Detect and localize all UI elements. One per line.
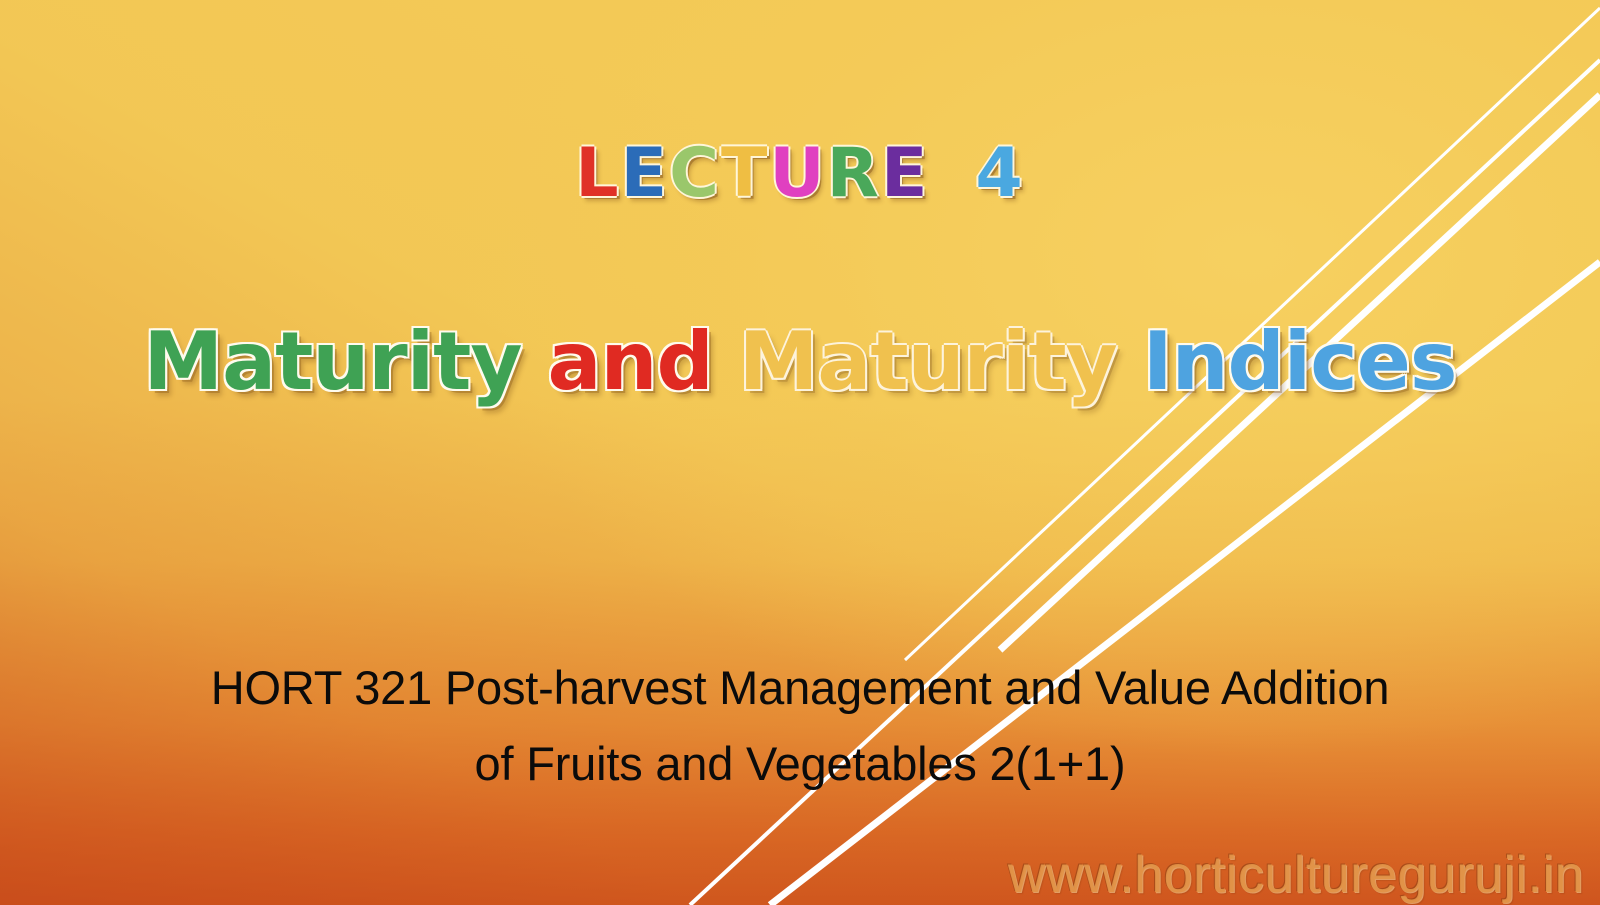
lecture-letter-u: U bbox=[769, 140, 826, 208]
main-title: MaturityandMaturityIndices bbox=[0, 322, 1600, 402]
title-slide: LECTURE4 MaturityandMaturityIndices HORT… bbox=[0, 0, 1600, 905]
title-word-and: and bbox=[548, 322, 713, 402]
course-subtitle-line-1: HORT 321 Post-harvest Management and Val… bbox=[0, 650, 1600, 726]
lecture-letter-c: C bbox=[669, 140, 721, 208]
lecture-letter-e1: E bbox=[621, 140, 669, 208]
lecture-heading: LECTURE4 bbox=[0, 140, 1600, 208]
course-subtitle-line-2: of Fruits and Vegetables 2(1+1) bbox=[0, 726, 1600, 802]
lecture-letter-l: L bbox=[575, 140, 620, 208]
lecture-letter-t: T bbox=[721, 140, 769, 208]
lecture-letter-r: R bbox=[827, 140, 881, 208]
title-word-maturity-2: Maturity bbox=[739, 322, 1117, 402]
course-subtitle: HORT 321 Post-harvest Management and Val… bbox=[0, 650, 1600, 802]
lecture-number: 4 bbox=[975, 140, 1024, 208]
site-watermark: www.horticultureguruji.in bbox=[1008, 849, 1584, 901]
title-word-maturity-1: Maturity bbox=[143, 322, 521, 402]
lecture-letter-e2: E bbox=[881, 140, 929, 208]
title-word-indices: Indices bbox=[1143, 322, 1457, 402]
